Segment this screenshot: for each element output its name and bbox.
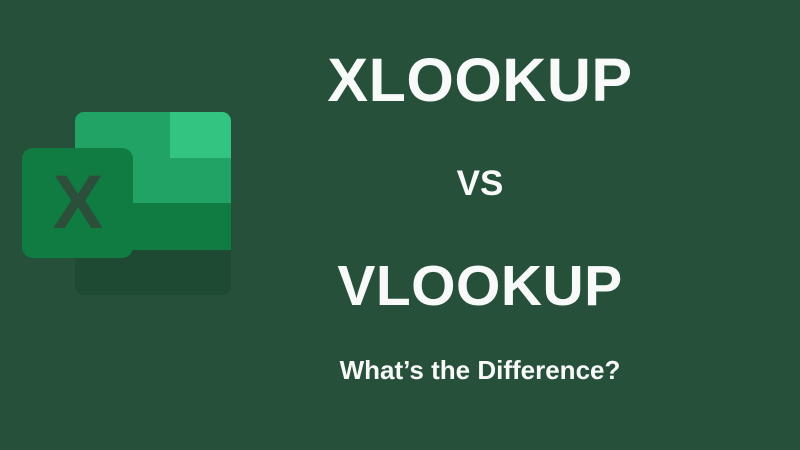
headline-block: XLOOKUP VS VLOOKUP What’s the Difference… (260, 0, 700, 450)
excel-logo: X (22, 112, 232, 296)
headline-vlookup: VLOOKUP (337, 258, 622, 315)
excel-x-letter: X (22, 148, 133, 258)
poster-canvas: X XLOOKUP VS VLOOKUP What’s the Differen… (0, 0, 800, 450)
excel-x-tile-icon: X (22, 148, 133, 258)
logo-band-top-right (170, 112, 231, 158)
headline-xlookup: XLOOKUP (327, 50, 632, 111)
headline-vs-separator: VS (457, 166, 504, 201)
subtitle-text: What’s the Difference? (340, 357, 621, 383)
